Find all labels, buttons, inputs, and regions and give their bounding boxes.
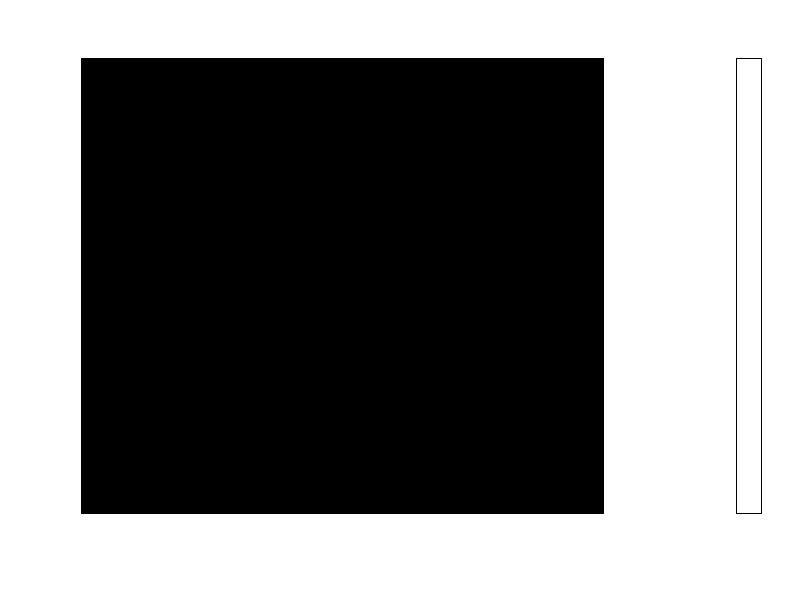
top-axis-ticks <box>81 49 602 59</box>
altitude-field <box>88 30 104 46</box>
wlon-field <box>142 30 148 46</box>
date-field <box>32 30 44 46</box>
colorbar-right-ticks <box>761 58 781 512</box>
apparent-range-axis-label <box>650 58 668 512</box>
colorbar-unit-label <box>690 534 798 550</box>
colorbar-tick-labels <box>688 58 718 512</box>
frequency-axis <box>81 513 602 559</box>
sza-field <box>66 30 72 46</box>
observation-header <box>10 30 792 48</box>
colorbar-left-ticks <box>716 58 736 512</box>
lat-field <box>120 30 126 46</box>
colorbar <box>736 58 762 514</box>
radargram-plot-area <box>81 58 604 514</box>
time-delay-axis-label <box>10 58 28 512</box>
apparent-range-axis <box>602 58 684 512</box>
radargram-heatmap <box>82 59 603 513</box>
ionogram-figure <box>0 0 800 600</box>
colorbar-gradient <box>737 59 761 513</box>
